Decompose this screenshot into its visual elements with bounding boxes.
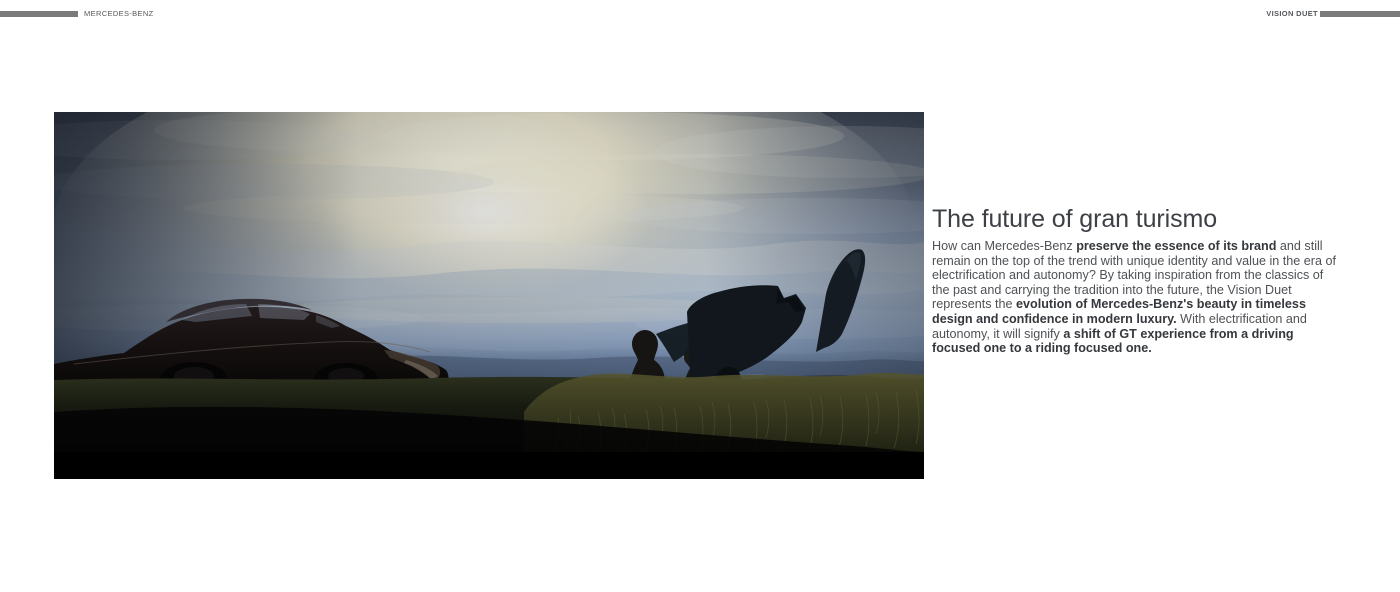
article-body: How can Mercedes-Benz preserve the essen…: [932, 239, 1336, 356]
page-header: MERCEDES-BENZ VISION DUET: [0, 0, 1400, 28]
header-rule-right: [1320, 11, 1400, 17]
hero-illustration: [54, 112, 924, 479]
hero-photo: [54, 112, 924, 479]
page-title: The future of gran turismo: [932, 204, 1336, 234]
brand-label-right: VISION DUET: [1262, 8, 1318, 19]
article-copy: The future of gran turismo How can Merce…: [932, 204, 1336, 356]
header-rule-left: [0, 11, 78, 17]
brand-label-left: MERCEDES-BENZ: [84, 8, 154, 19]
